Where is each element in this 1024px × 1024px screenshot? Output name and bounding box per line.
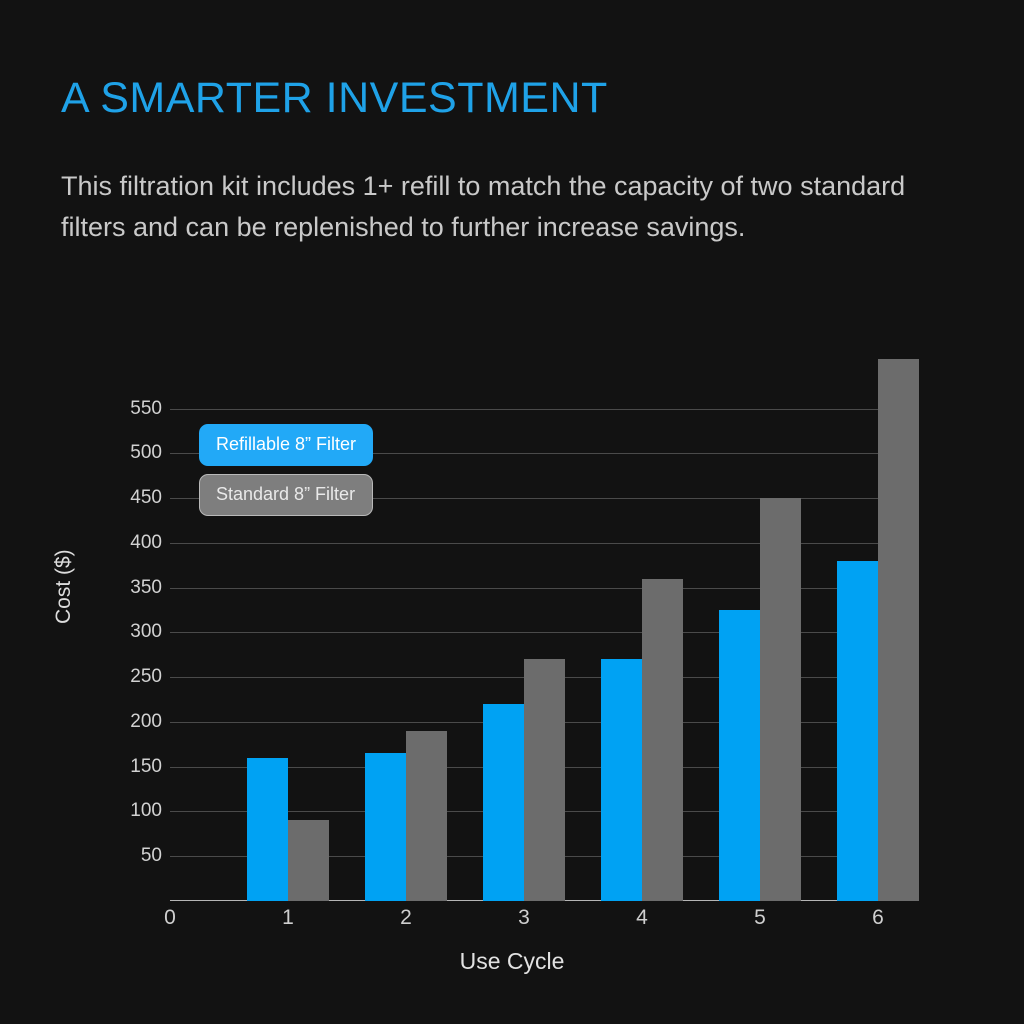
y-axis-tick-labels: 50100150200250300350400450500550 [110,346,162,901]
promo-chart-page: A SMARTER INVESTMENT This filtration kit… [0,0,1024,1024]
x-tick-label: 4 [636,906,648,930]
y-tick-label: 250 [130,666,162,688]
bar-standard-cycle-6 [878,359,919,901]
y-tick-label: 400 [130,532,162,554]
y-tick-label: 150 [130,756,162,778]
bar-refillable-cycle-5 [719,610,760,901]
bar-standard-cycle-2 [406,731,447,901]
bar-chart: 50100150200250300350400450500550 Cost ($… [0,0,1024,1024]
x-tick-label: 1 [282,906,294,930]
bar-standard-cycle-3 [524,659,565,901]
bar-refillable-cycle-1 [247,758,288,901]
legend-item-standard[interactable]: Standard 8” Filter [199,474,373,516]
y-tick-label: 550 [130,398,162,420]
bar-standard-cycle-5 [760,498,801,901]
y-tick-label: 200 [130,711,162,733]
y-tick-label: 350 [130,577,162,599]
y-tick-label: 300 [130,621,162,643]
y-tick-label: 450 [130,487,162,509]
bar-refillable-cycle-3 [483,704,524,901]
y-tick-label: 50 [141,845,162,867]
x-tick-label: 3 [518,906,530,930]
bar-standard-cycle-1 [288,820,329,901]
x-tick-label: 0 [164,906,176,930]
bar-refillable-cycle-4 [601,659,642,901]
bar-refillable-cycle-6 [837,561,878,901]
x-axis-title: Use Cycle [0,948,1024,975]
y-gridline [170,409,890,410]
legend-item-refillable[interactable]: Refillable 8” Filter [199,424,373,466]
x-tick-label: 5 [754,906,766,930]
x-tick-label: 2 [400,906,412,930]
bar-standard-cycle-4 [642,579,683,901]
x-tick-label: 6 [872,906,884,930]
y-tick-label: 100 [130,800,162,822]
y-axis-title: Cost ($) [52,549,76,624]
y-tick-label: 500 [130,442,162,464]
bar-refillable-cycle-2 [365,753,406,901]
chart-legend: Refillable 8” Filter Standard 8” Filter [199,424,373,524]
